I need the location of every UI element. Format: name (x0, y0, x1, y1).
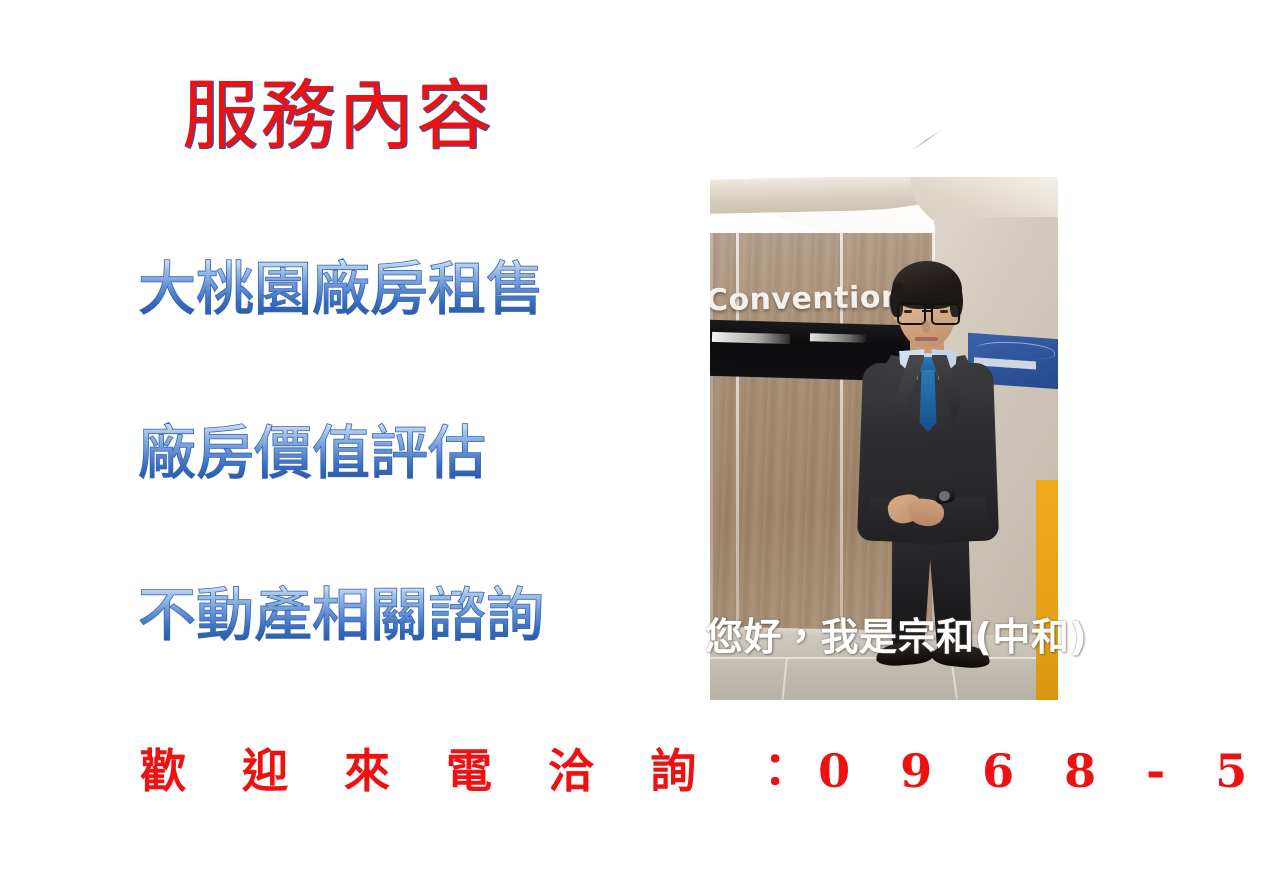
eyeglasses-icon (896, 303, 958, 322)
mouth (915, 337, 938, 341)
slide-canvas: 服務內容 大桃園廠房租售 大桃園廠房租售 廠房價值評估 廠房價值評估 不動產相關… (0, 0, 1263, 891)
photo-caption: 您好，我是宗和(中和) (705, 606, 1087, 661)
contact-phone-number[interactable]: 0 9 6 8 - 5 1 9 - 8 8 8 (818, 744, 1263, 798)
service-item-1: 大桃園廠房租售 (138, 260, 544, 318)
service-item-2: 廠房價值評估 (138, 424, 486, 482)
nose (922, 321, 930, 333)
lens-left (897, 303, 926, 325)
page-title: 服務內容 (182, 78, 494, 154)
contact-label: 歡 迎 來 電 洽 詢 ： (140, 744, 818, 798)
service-item-3: 不動產相關諮詢 (138, 586, 544, 644)
lens-right (931, 303, 960, 325)
contact-line: 歡 迎 來 電 洽 詢 ：0 9 6 8 - 5 1 9 - 8 8 8 (140, 748, 1263, 794)
hairline-artifact (911, 130, 941, 151)
glasses-bridge (922, 310, 932, 312)
